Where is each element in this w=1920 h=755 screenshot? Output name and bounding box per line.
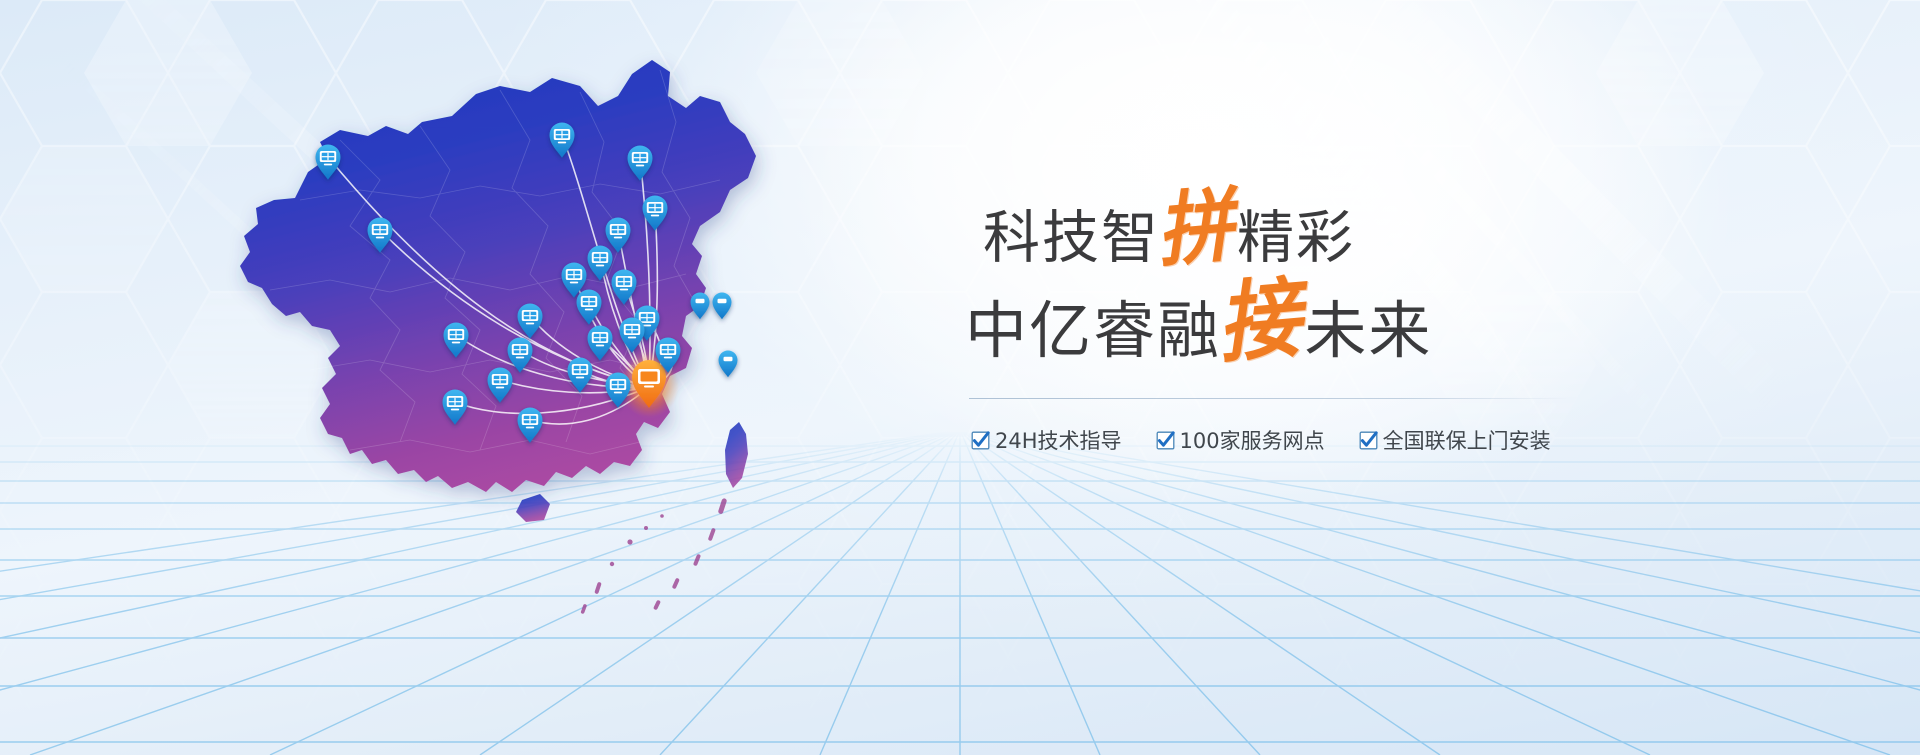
south-sea-islands [580,498,727,614]
feature-label: 100家服务网点 [1180,425,1325,455]
feature-list: 24H技术指导100家服务网点全国联保上门安装 [971,425,1585,455]
headline-line-2: 中亿睿融接未来 [965,285,1585,364]
headline-line1-part2: 精彩 [1237,205,1355,271]
feature-item-1: 24H技术指导 [971,425,1122,455]
feature-label: 24H技术指导 [995,425,1122,455]
headline-line2-part1: 中亿睿融 [965,294,1221,367]
pin-taiwan-a[interactable] [691,293,710,320]
feature-label: 全国联保上门安装 [1383,425,1551,455]
checkbox-checked-icon [1359,431,1378,450]
headline-block: 科技智拼精彩 中亿睿融接未来 24H技术指导100家服务网点全国联保上门安装 [965,196,1585,455]
headline-line-1: 科技智拼精彩 [965,196,1585,269]
promotional-banner: 科技智拼精彩 中亿睿融接未来 24H技术指导100家服务网点全国联保上门安装 [0,0,1920,755]
checkbox-checked-icon [971,431,990,450]
checkbox-checked-icon [1156,431,1175,450]
feature-item-2: 100家服务网点 [1156,425,1325,455]
china-map-container [200,30,840,630]
headline-line1-part1: 科技智 [983,205,1160,271]
feature-item-3: 全国联保上门安装 [1359,425,1551,455]
hainan-island [516,494,550,522]
pin-taiwan-b[interactable] [713,293,732,320]
taiwan-island [725,422,748,488]
headline-divider [969,398,1569,399]
pin-offshore[interactable] [719,351,738,378]
headline-line1-brush-char: 拼 [1154,186,1237,273]
headline-line2-brush-char: 接 [1214,274,1304,368]
headline-line2-part2: 未来 [1304,294,1432,367]
